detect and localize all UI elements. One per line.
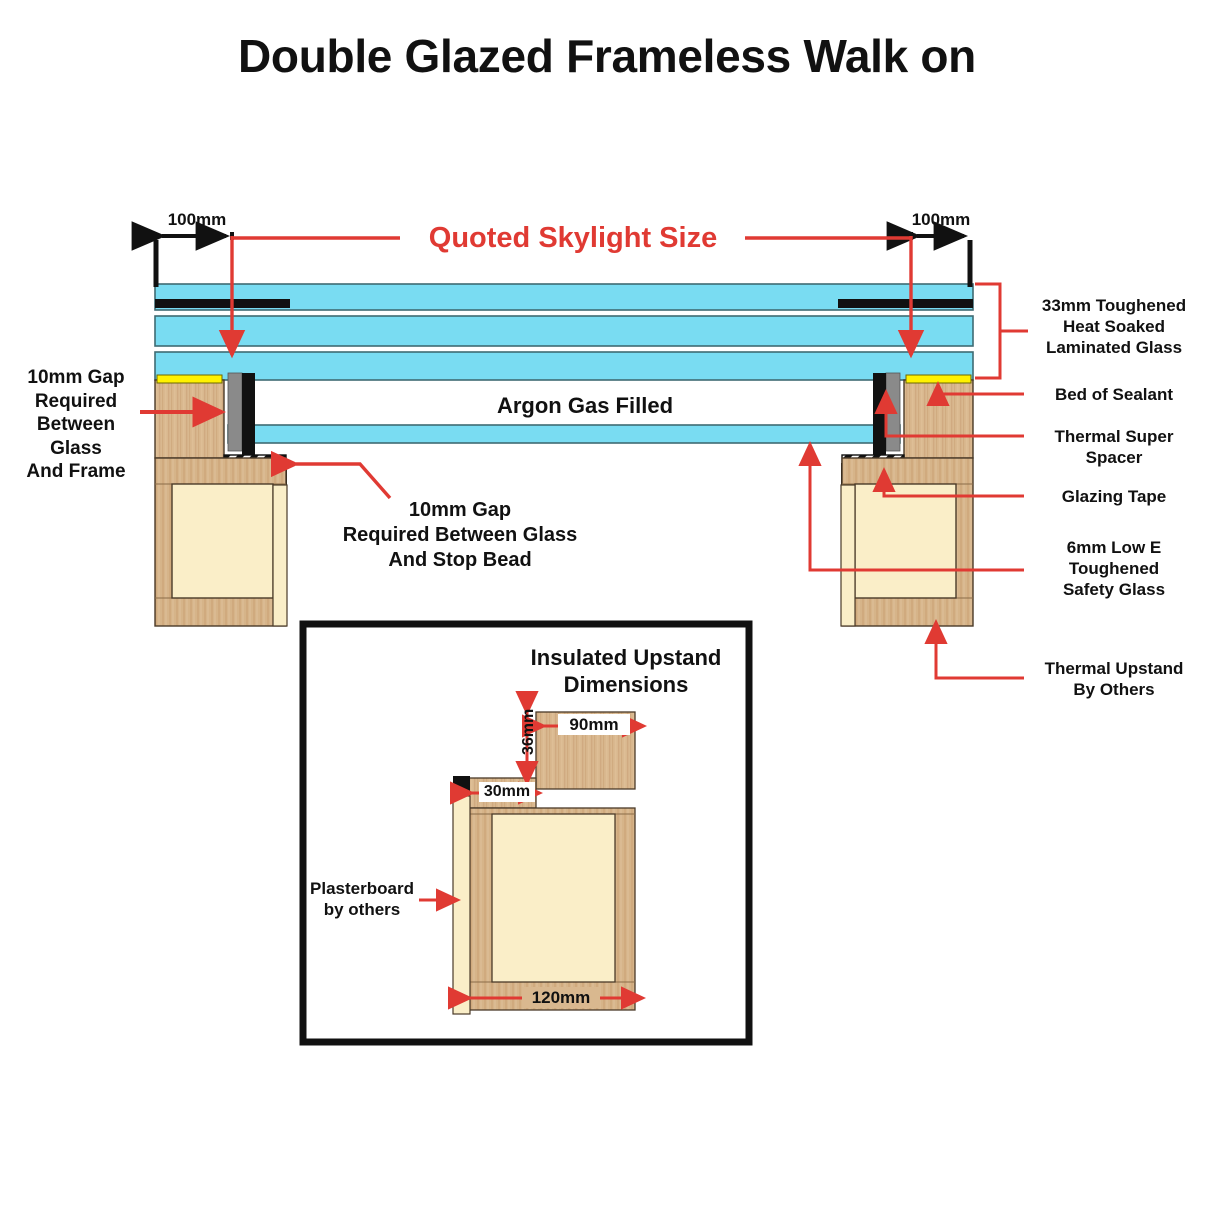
callout-laminated-glass: 33mm Toughened Heat Soaked Laminated Gla…: [1024, 295, 1204, 358]
leader-stop-bead-gap: [296, 464, 390, 498]
lower-low-e-pane: [228, 425, 900, 443]
inset-title: Insulated Upstand Dimensions: [476, 644, 776, 699]
callout-bed-of-sealant: Bed of Sealant: [1024, 384, 1204, 405]
inset-dim-120mm: 120mm: [522, 987, 600, 1008]
leader-glazing-tape: [884, 470, 1024, 496]
glazing-tape-right: [842, 455, 904, 477]
leader-bed-of-sealant: [938, 384, 1024, 394]
bed-of-sealant-right: [906, 375, 971, 383]
inset-stop-bead: [453, 776, 470, 796]
thermal-super-spacer-right: [886, 373, 900, 451]
insulation-core-right: [855, 484, 956, 598]
main-section-drawing: [0, 0, 1214, 1214]
glazing-tape-left: [224, 455, 286, 477]
plasterboard-left: [273, 485, 287, 626]
inset-dim-90mm: 90mm: [558, 714, 630, 735]
right-upstand-assembly: [841, 373, 973, 626]
leader-thermal-upstand: [936, 622, 1024, 678]
glass-edge-bar-left: [155, 299, 290, 308]
leader-thermal-super-spacer: [886, 392, 1024, 436]
callout-low-e-glass: 6mm Low E Toughened Safety Glass: [1024, 537, 1204, 600]
insulation-core-left: [172, 484, 273, 598]
glass-edge-bar-right: [838, 299, 973, 308]
leader-low-e-glass: [810, 444, 1024, 570]
inset-plasterboard: [453, 796, 470, 1014]
inset-upstand-drawing: [453, 712, 635, 1014]
argon-gas-filled-label: Argon Gas Filled: [425, 392, 745, 419]
dimension-label-left-100mm: 100mm: [152, 209, 242, 230]
upper-laminated-glass: [155, 284, 973, 380]
callout-thermal-upstand: Thermal Upstand By Others: [1014, 658, 1214, 700]
callout-glazing-tape: Glazing Tape: [1024, 486, 1204, 507]
diagram-canvas: Double Glazed Frameless Walk on: [0, 0, 1214, 1214]
page-title: Double Glazed Frameless Walk on: [0, 28, 1214, 85]
inset-plasterboard-label: Plasterboard by others: [300, 878, 424, 920]
plasterboard-right: [841, 485, 855, 626]
bed-of-sealant-left: [157, 375, 222, 383]
callout-stop-bead-gap: 10mm Gap Required Between Glass And Stop…: [310, 498, 610, 572]
leader-laminated-glass: [975, 284, 1028, 378]
dimension-label-right-100mm: 100mm: [896, 209, 986, 230]
callout-thermal-super-spacer: Thermal Super Spacer: [1024, 426, 1204, 468]
stop-bead-right: [873, 373, 886, 455]
quoted-skylight-size-label: Quoted Skylight Size: [400, 221, 746, 257]
inset-dim-30mm: 30mm: [479, 782, 535, 802]
thermal-super-spacer-left: [228, 373, 242, 451]
left-upstand-assembly: [155, 373, 287, 626]
stop-bead-left: [242, 373, 255, 455]
callout-left-gap: 10mm Gap Required Between Glass And Fram…: [6, 366, 146, 484]
dimension-100mm-right: [911, 232, 970, 287]
inset-dim-36mm: 36mm: [519, 708, 539, 756]
inset-insulation-core: [492, 814, 615, 982]
dimension-100mm-left: [156, 232, 232, 287]
